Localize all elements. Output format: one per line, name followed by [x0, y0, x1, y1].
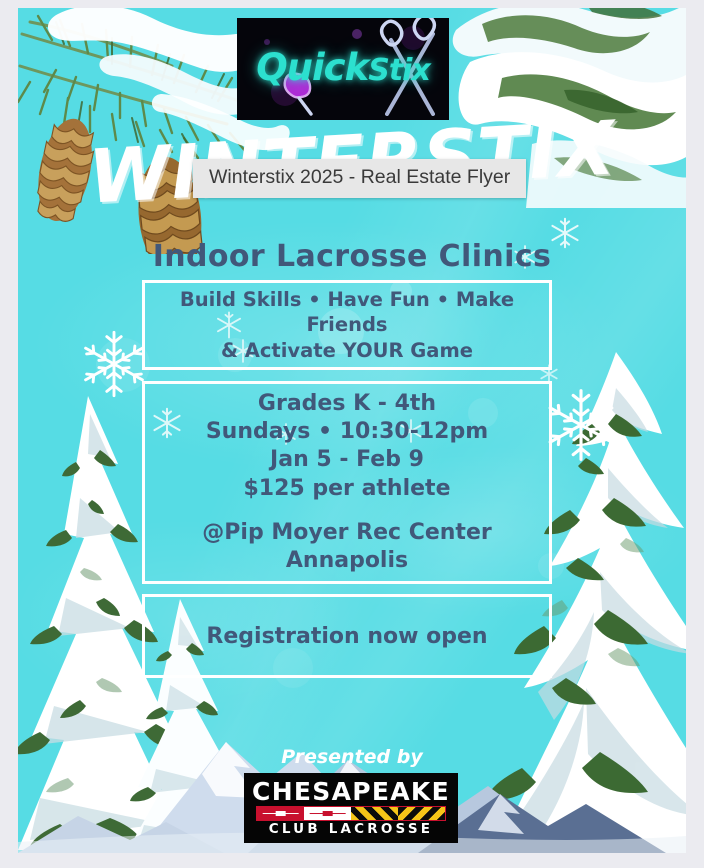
details-box: Grades K - 4th Sundays • 10:30-12pm Jan … [142, 381, 552, 584]
presented-by-label: Presented by [18, 746, 686, 768]
detail-price: $125 per athlete [244, 475, 451, 503]
sponsor-name-line-1: CHESAPEAKE [244, 777, 458, 806]
detail-grades: Grades K - 4th [258, 390, 436, 418]
chesapeake-club-lacrosse-logo: CHESAPEAKE CLUB LACROSSE [244, 773, 458, 843]
detail-schedule: Sundays • 10:30-12pm [206, 418, 488, 446]
detail-city: Annapolis [286, 547, 408, 575]
tagline-box: Build Skills • Have Fun • Make Friends &… [142, 280, 552, 370]
page-title: Indoor Lacrosse Clinics [18, 239, 686, 274]
tagline-line-2: & Activate YOUR Game [221, 338, 473, 363]
flag-quadrant-black [398, 807, 445, 820]
quickstix-logo: QuickStix [237, 18, 449, 120]
image-viewer: QuickStix WINTERSTIX Indoor Lacrosse Cli… [0, 0, 704, 868]
snowflake-icon [542, 386, 620, 464]
flyer-image[interactable]: QuickStix WINTERSTIX Indoor Lacrosse Cli… [18, 8, 686, 853]
quickstix-logo-accent: Stix [368, 53, 430, 88]
registration-box[interactable]: Registration now open [142, 594, 552, 678]
sponsor-name-line-2: CLUB LACROSSE [244, 821, 458, 837]
flag-quadrant-gold [351, 807, 398, 820]
tagline-line-1: Build Skills • Have Fun • Make Friends [145, 287, 549, 338]
flag-quadrant-red [257, 807, 304, 820]
detail-venue: @Pip Moyer Rec Center [202, 519, 491, 547]
detail-dates: Jan 5 - Feb 9 [270, 446, 424, 474]
registration-text: Registration now open [206, 624, 487, 649]
quickstix-logo-main: Quick [256, 46, 368, 89]
snowflake-icon [78, 328, 150, 400]
image-title-tooltip: Winterstix 2025 - Real Estate Flyer [193, 159, 526, 198]
maryland-flag-icon [256, 806, 446, 821]
quickstix-logo-text: QuickStix [237, 46, 449, 89]
flag-quadrant-white [304, 807, 351, 820]
